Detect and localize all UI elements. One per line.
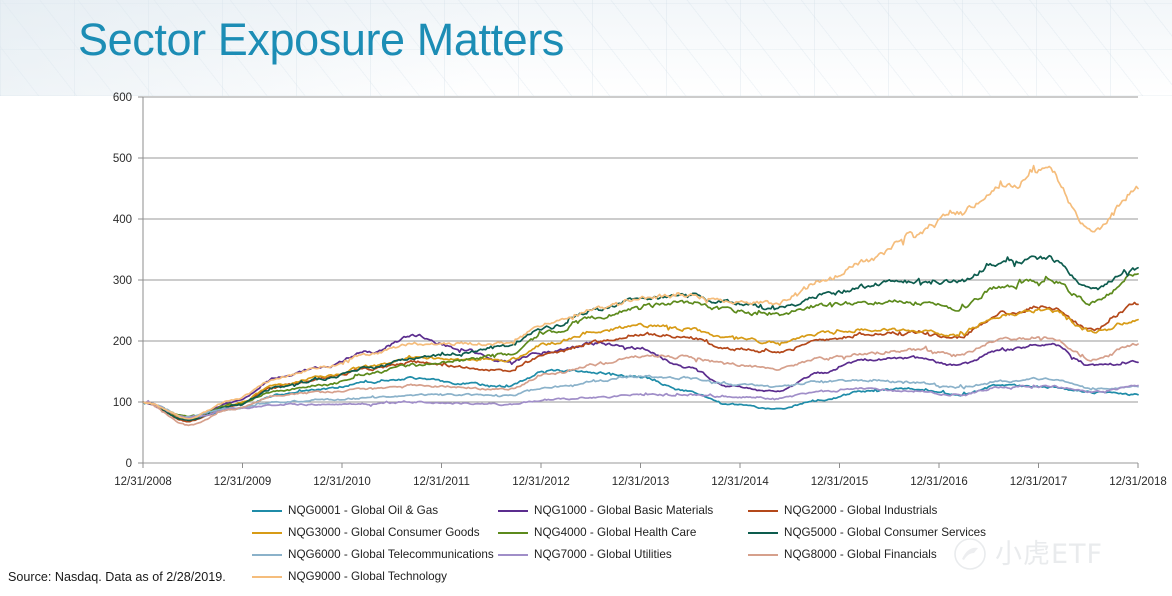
svg-text:300: 300 [113,275,132,287]
series-line [143,375,1138,417]
svg-text:12/31/2011: 12/31/2011 [413,476,470,488]
svg-text:12/31/2015: 12/31/2015 [811,476,869,488]
legend-item-label: NQG5000 - Global Consumer Services [784,527,986,539]
legend-color-swatch [498,510,528,513]
legend-color-swatch [252,554,282,557]
legend-color-swatch [748,554,778,557]
legend-item-label: NQG6000 - Global Telecommunications [288,549,494,561]
svg-text:100: 100 [113,397,132,409]
page-title: Sector Exposure Matters [78,14,564,66]
legend-item-label: NQG7000 - Global Utilities [534,549,672,561]
sector-performance-chart: 0100200300400500600 12/31/200812/31/2009… [0,86,1172,496]
svg-text:600: 600 [113,92,132,104]
legend-item-label: NQG9000 - Global Technology [288,571,447,583]
svg-text:0: 0 [126,458,132,470]
svg-text:12/31/2013: 12/31/2013 [612,476,670,488]
svg-text:200: 200 [113,336,132,348]
chart-series-lines [143,166,1138,426]
svg-text:12/31/2014: 12/31/2014 [711,476,769,488]
legend-color-swatch [252,532,282,535]
legend-color-swatch [748,510,778,513]
source-note: Source: Nasdaq. Data as of 2/28/2019. [8,570,226,584]
svg-text:12/31/2012: 12/31/2012 [512,476,570,488]
legend-item-label: NQG3000 - Global Consumer Goods [288,527,480,539]
svg-text:12/31/2008: 12/31/2008 [114,476,172,488]
svg-text:12/31/2018: 12/31/2018 [1109,476,1167,488]
chart-canvas: 0100200300400500600 12/31/200812/31/2009… [0,86,1172,496]
legend-item[interactable]: NQG1000 - Global Basic Materials [498,505,748,517]
chart-legend: NQG0001 - Global Oil & GasNQG1000 - Glob… [252,500,1062,588]
series-line [143,274,1138,417]
x-axis-tickmarks [143,463,1138,468]
y-axis-tick-labels: 0100200300400500600 [113,92,132,470]
legend-item[interactable]: NQG3000 - Global Consumer Goods [252,527,498,539]
legend-item[interactable]: NQG9000 - Global Technology [252,571,498,583]
legend-color-swatch [498,532,528,535]
series-line [143,166,1138,419]
legend-color-swatch [252,510,282,513]
svg-text:12/31/2009: 12/31/2009 [214,476,272,488]
x-axis-tick-labels: 12/31/200812/31/200912/31/201012/31/2011… [114,476,1167,488]
legend-item[interactable]: NQG6000 - Global Telecommunications [252,549,498,561]
svg-text:12/31/2017: 12/31/2017 [1010,476,1068,488]
svg-text:12/31/2010: 12/31/2010 [313,476,371,488]
legend-item-label: NQG1000 - Global Basic Materials [534,505,713,517]
series-line [143,309,1138,420]
legend-item-label: NQG0001 - Global Oil & Gas [288,505,438,517]
legend-item-label: NQG8000 - Global Financials [784,549,937,561]
legend-color-swatch [252,576,282,579]
series-line [143,337,1138,425]
chart-gridlines [138,97,1138,463]
svg-text:12/31/2016: 12/31/2016 [910,476,968,488]
legend-item[interactable]: NQG4000 - Global Health Care [498,527,748,539]
legend-color-swatch [748,532,778,535]
legend-color-swatch [498,554,528,557]
legend-item[interactable]: NQG2000 - Global Industrials [748,505,998,517]
legend-item[interactable]: NQG0001 - Global Oil & Gas [252,505,498,517]
svg-text:400: 400 [113,214,132,226]
legend-item[interactable]: NQG5000 - Global Consumer Services [748,527,998,539]
legend-item[interactable]: NQG8000 - Global Financials [748,549,998,561]
legend-item[interactable]: NQG7000 - Global Utilities [498,549,748,561]
svg-text:500: 500 [113,153,132,165]
legend-item-label: NQG2000 - Global Industrials [784,505,937,517]
legend-item-label: NQG4000 - Global Health Care [534,527,696,539]
